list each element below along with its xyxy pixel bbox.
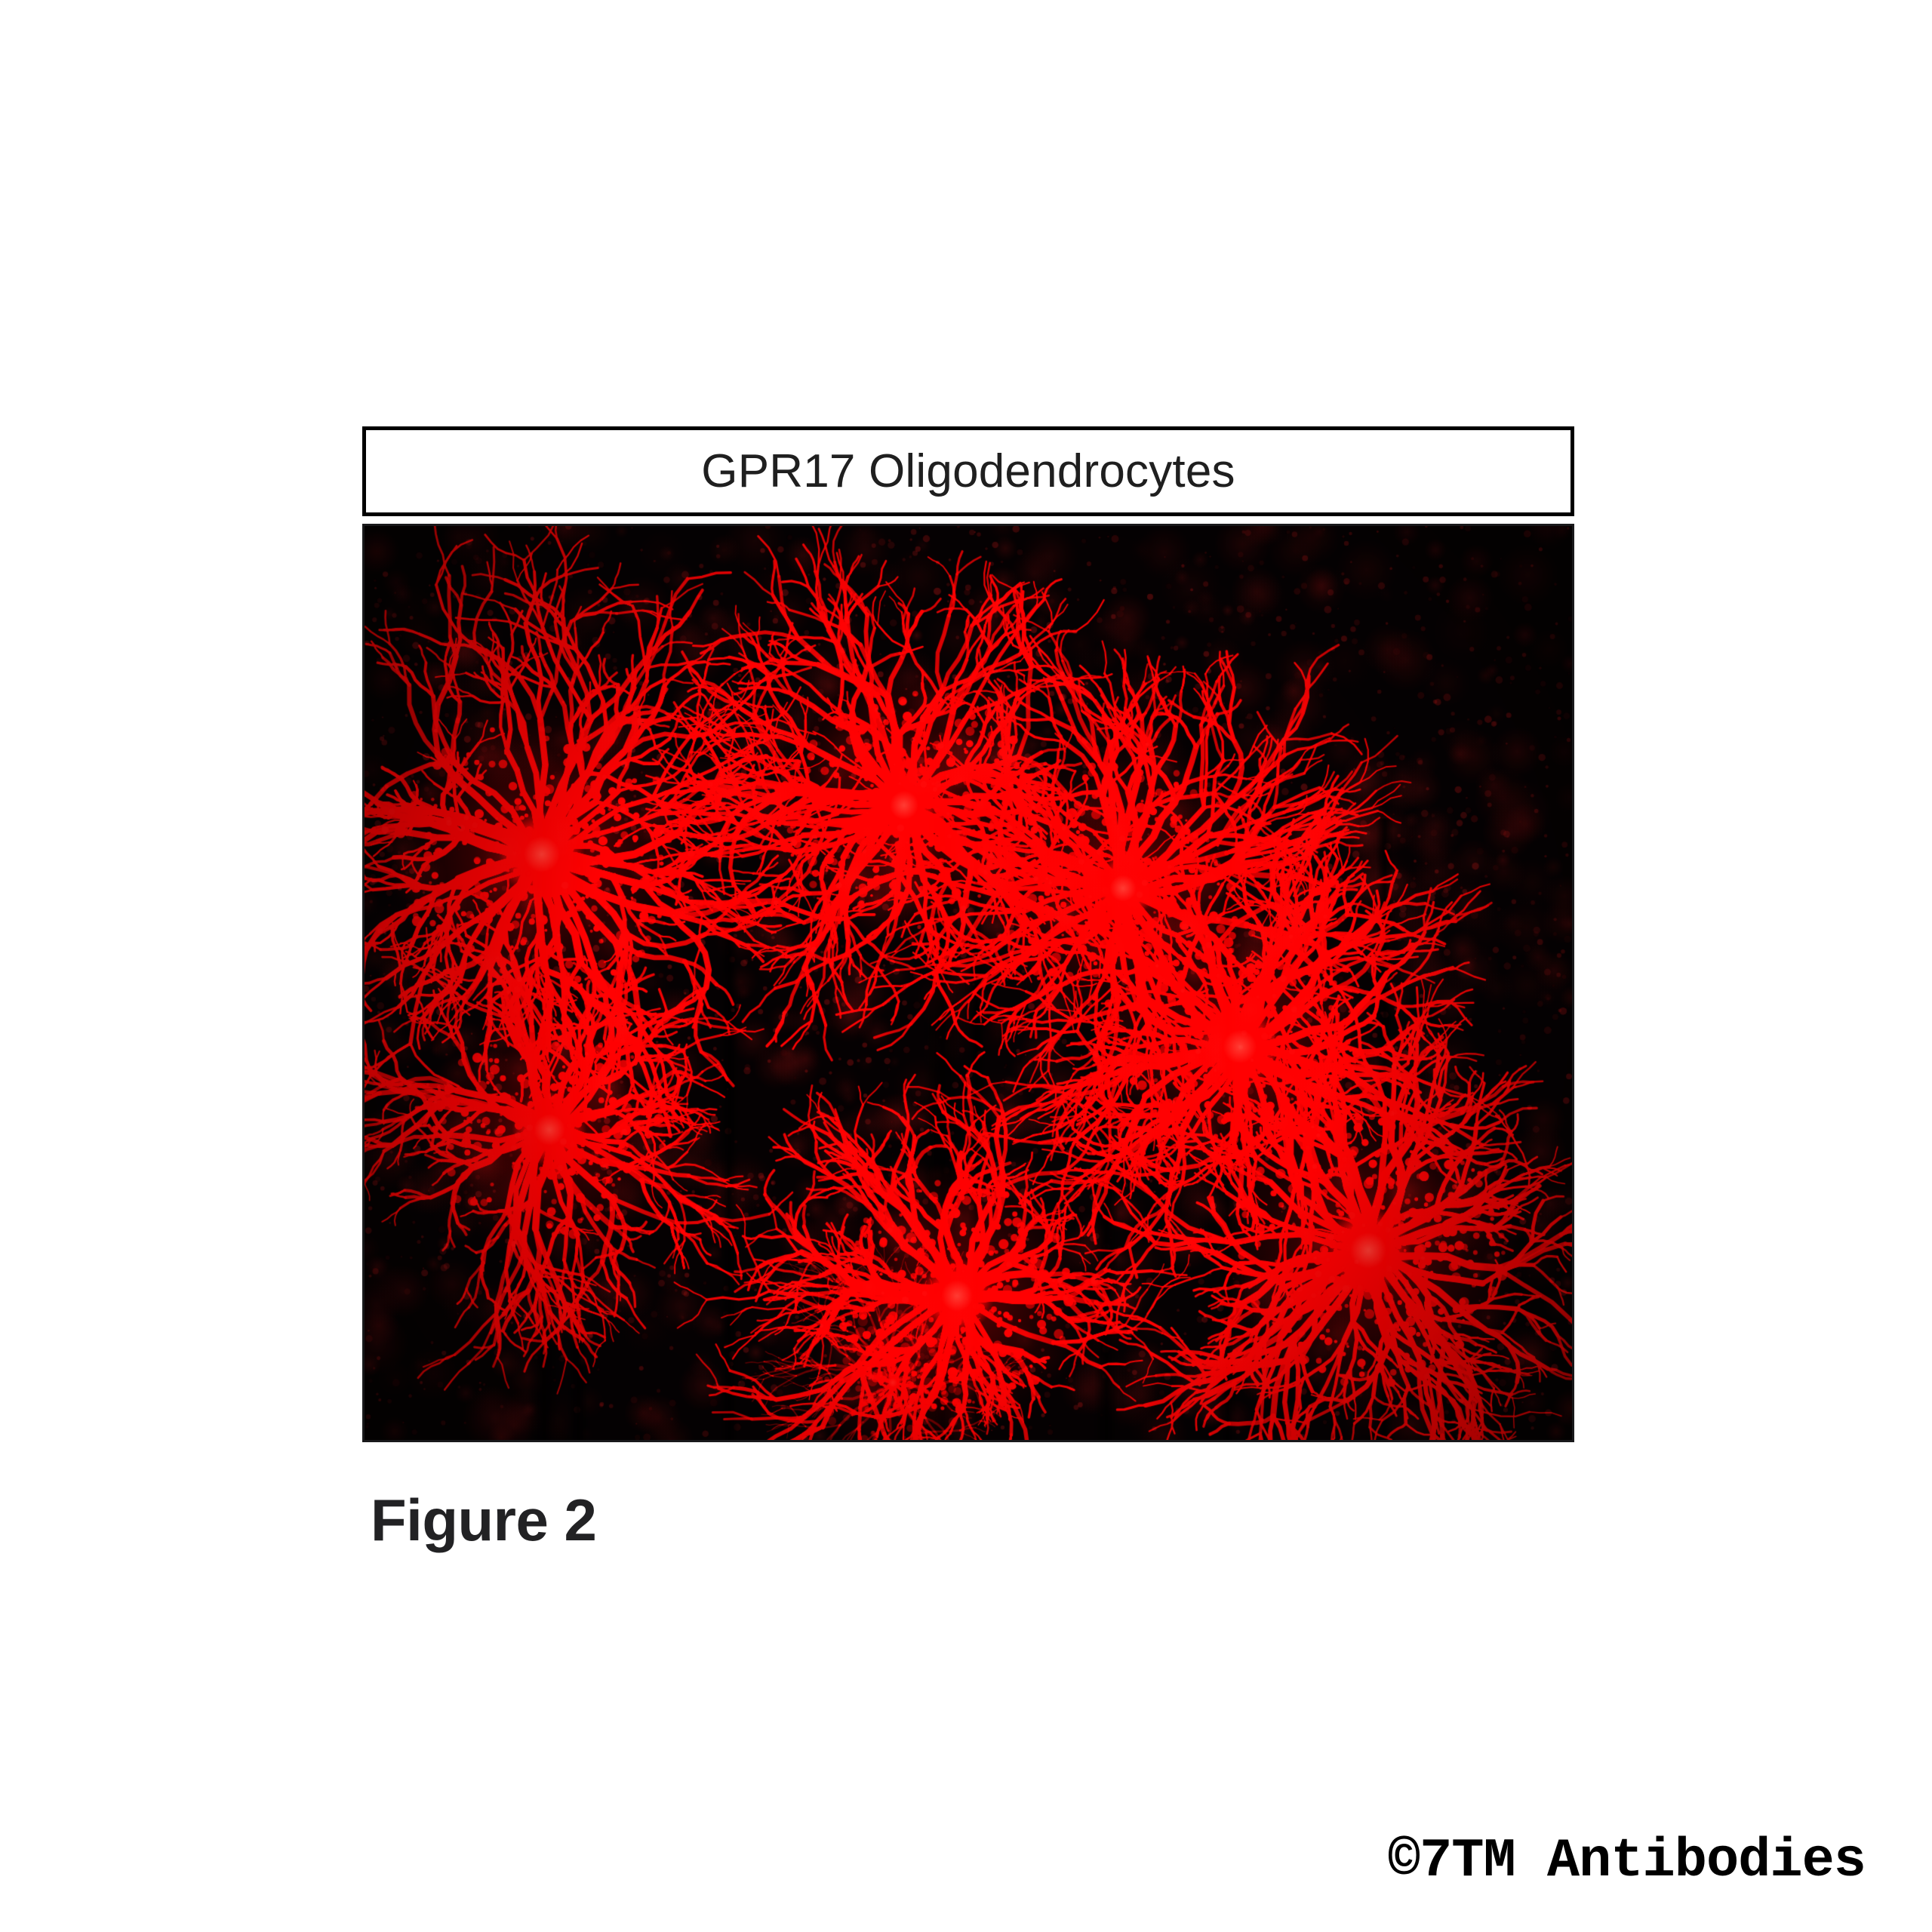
copyright-notice: ©7TM Antibodies <box>1388 1834 1866 1888</box>
micrograph-panel <box>362 524 1574 1442</box>
figure: GPR17 Oligodendrocytes <box>362 426 1574 1442</box>
panel-title-label: GPR17 Oligodendrocytes <box>701 448 1235 495</box>
panel-title-box: GPR17 Oligodendrocytes <box>362 426 1574 516</box>
fluorescence-micrograph-image <box>365 526 1572 1440</box>
figure-caption: Figure 2 <box>371 1491 596 1549</box>
